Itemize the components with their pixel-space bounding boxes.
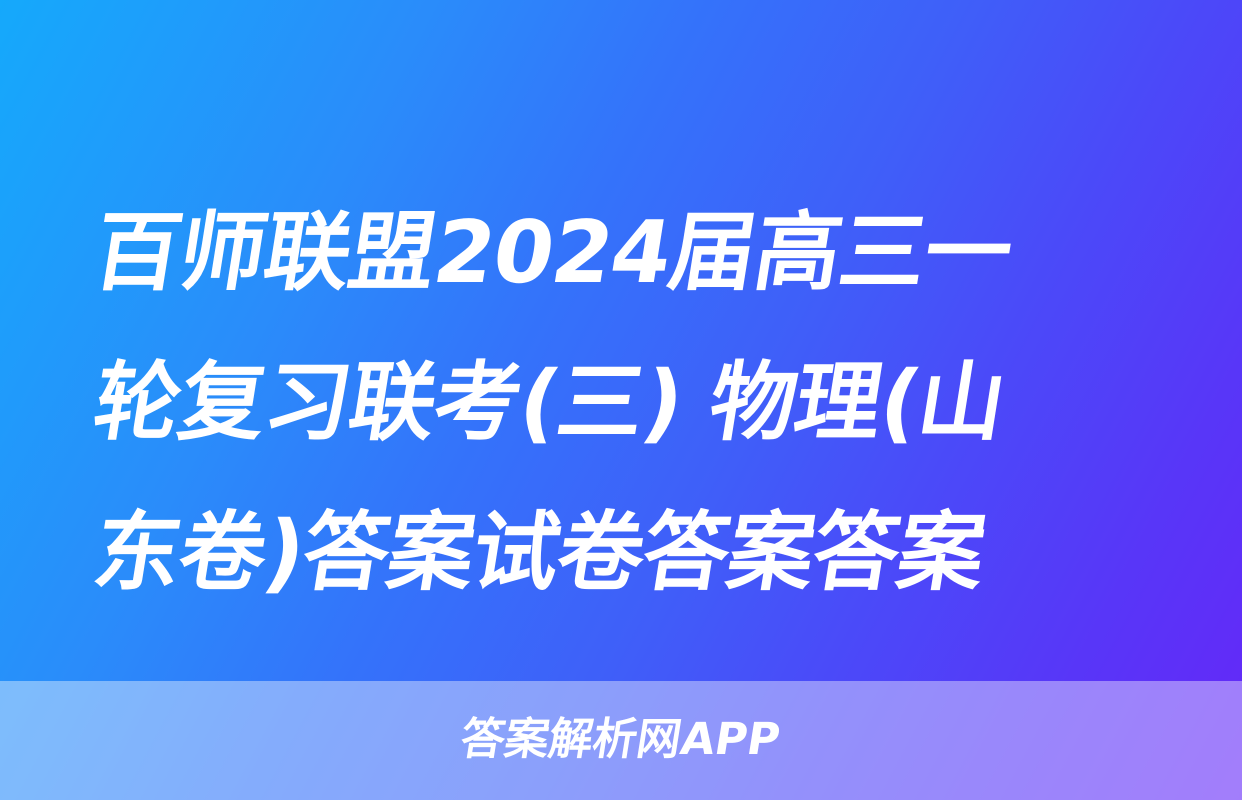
title-line-3: 东卷)答案试卷答案答案 [83, 478, 1162, 628]
page-title: 百师联盟2024届高三一 轮复习联考(三) 物理(山 东卷)答案试卷答案答案 [95, 178, 1150, 628]
poster-canvas: 百师联盟2024届高三一 轮复习联考(三) 物理(山 东卷)答案试卷答案答案 答… [0, 0, 1242, 800]
title-line-1: 百师联盟2024届高三一 [83, 178, 1162, 328]
title-line-2: 轮复习联考(三) 物理(山 [83, 328, 1162, 478]
app-watermark-label: 答案解析网APP [0, 703, 1242, 767]
